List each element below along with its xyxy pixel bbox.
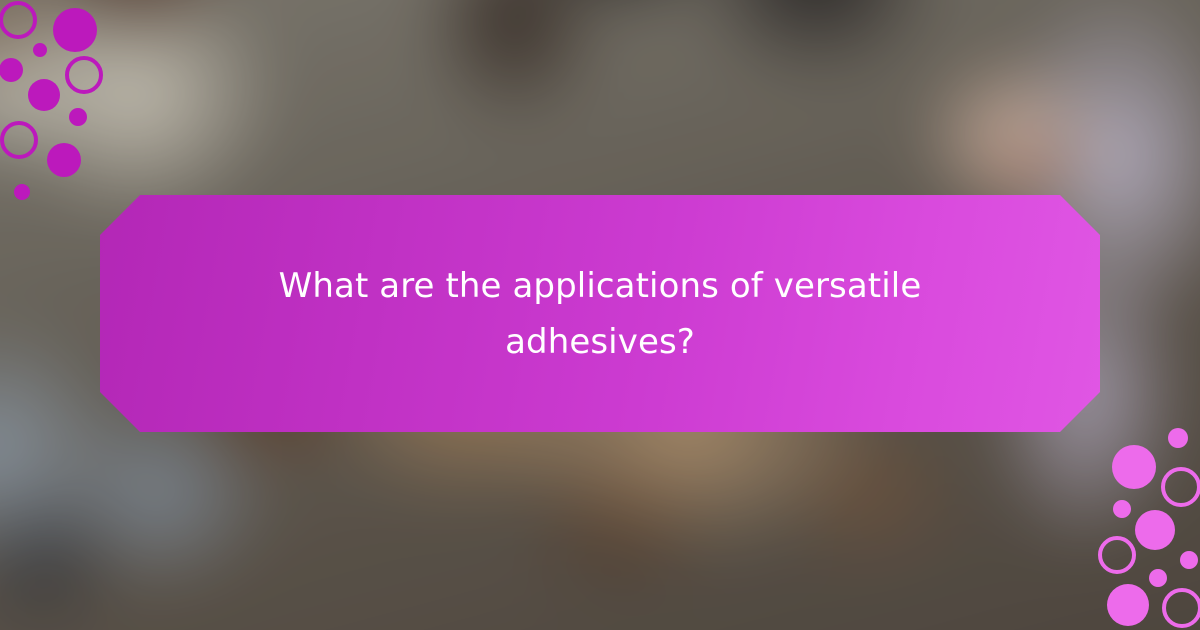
decorative-circle xyxy=(0,58,23,82)
decorative-circle xyxy=(1112,445,1156,489)
decorative-circle xyxy=(1149,569,1167,587)
banner-title-line-1: What are the applications of versatile xyxy=(279,266,922,306)
decorative-circle xyxy=(1107,584,1149,626)
decorative-circle xyxy=(1180,551,1198,569)
decorative-circle xyxy=(33,43,47,57)
decorative-circle xyxy=(1098,536,1136,574)
decorative-circle xyxy=(0,121,38,159)
banner-title-line-2: adhesives? xyxy=(505,322,695,362)
decorative-circle xyxy=(47,143,81,177)
decorative-circle xyxy=(1135,510,1175,550)
decorative-circle xyxy=(69,108,87,126)
decorative-circle xyxy=(14,184,30,200)
decorative-circle xyxy=(1161,467,1200,507)
share-card-canvas: What are the applications of versatile a… xyxy=(0,0,1200,630)
banner-title: What are the applications of versatile a… xyxy=(250,258,950,370)
decorative-circle xyxy=(28,79,60,111)
decorative-circle xyxy=(1162,588,1200,628)
decorative-circle xyxy=(0,1,37,39)
decorative-circle xyxy=(65,56,103,94)
decorative-circle xyxy=(53,8,97,52)
decorative-circle xyxy=(1168,428,1188,448)
title-banner: What are the applications of versatile a… xyxy=(100,195,1100,432)
decorative-circle xyxy=(1113,500,1131,518)
